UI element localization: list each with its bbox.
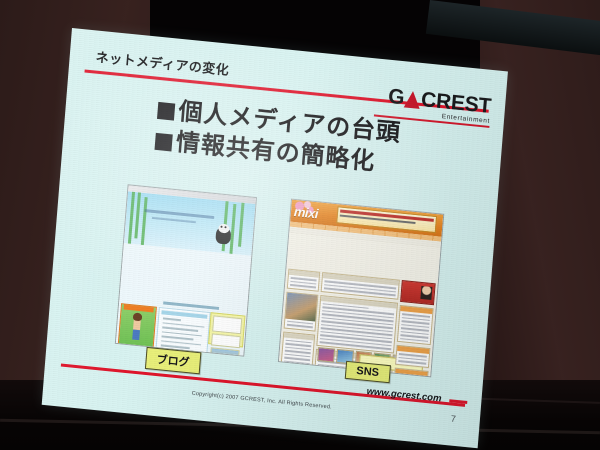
blog-body xyxy=(116,243,251,355)
page-number: 7 xyxy=(450,414,456,424)
avatar-character xyxy=(133,320,141,331)
mixi-body xyxy=(279,233,441,377)
projected-slide: ネットメディアの変化 G CREST Entertainment 個人メディアの… xyxy=(42,28,508,448)
blog-screenshot: browser screenshot of a bamboo and panda… xyxy=(115,184,257,356)
mixi-links-card xyxy=(280,331,315,375)
square-bullet-icon xyxy=(155,132,173,151)
mixi-profile-card xyxy=(287,269,320,292)
mixi-ad-banner-red xyxy=(400,280,436,305)
mixi-right-column xyxy=(395,280,436,374)
panda-illustration-icon xyxy=(215,226,231,244)
triangle-mark-icon xyxy=(404,90,421,109)
callout-sns: SNS xyxy=(345,361,391,383)
mixi-sidebar-list-2 xyxy=(395,345,430,368)
blog-ad-2 xyxy=(211,333,241,348)
mixi-center-column xyxy=(315,272,400,370)
blog-right-sidebar-ads xyxy=(208,312,245,347)
blog-subtitle-text xyxy=(152,217,196,223)
mixi-photo-card xyxy=(284,291,319,331)
mixi-sidebar-photo xyxy=(392,367,429,377)
bullet-list: 個人メディアの台頭 情報共有の簡略化 xyxy=(154,95,402,181)
logo-text-left: G xyxy=(387,86,405,109)
mixi-news-card xyxy=(316,294,398,353)
mixi-community-card xyxy=(278,374,311,377)
square-bullet-icon xyxy=(157,102,175,121)
website-url: www.gcrest.com xyxy=(366,386,442,404)
blog-left-sidebar xyxy=(118,303,155,344)
mixi-logo: mixi xyxy=(293,204,318,221)
callout-blog: ブログ xyxy=(145,347,202,374)
sns-screenshot: browser screenshot of the mixi social ne… xyxy=(278,199,444,378)
mixi-left-column xyxy=(281,269,320,363)
blog-ad-3 xyxy=(209,347,239,356)
blog-post-column xyxy=(157,307,211,342)
blog-ad-1 xyxy=(212,315,242,334)
mixi-sidebar-list-1 xyxy=(397,305,434,345)
